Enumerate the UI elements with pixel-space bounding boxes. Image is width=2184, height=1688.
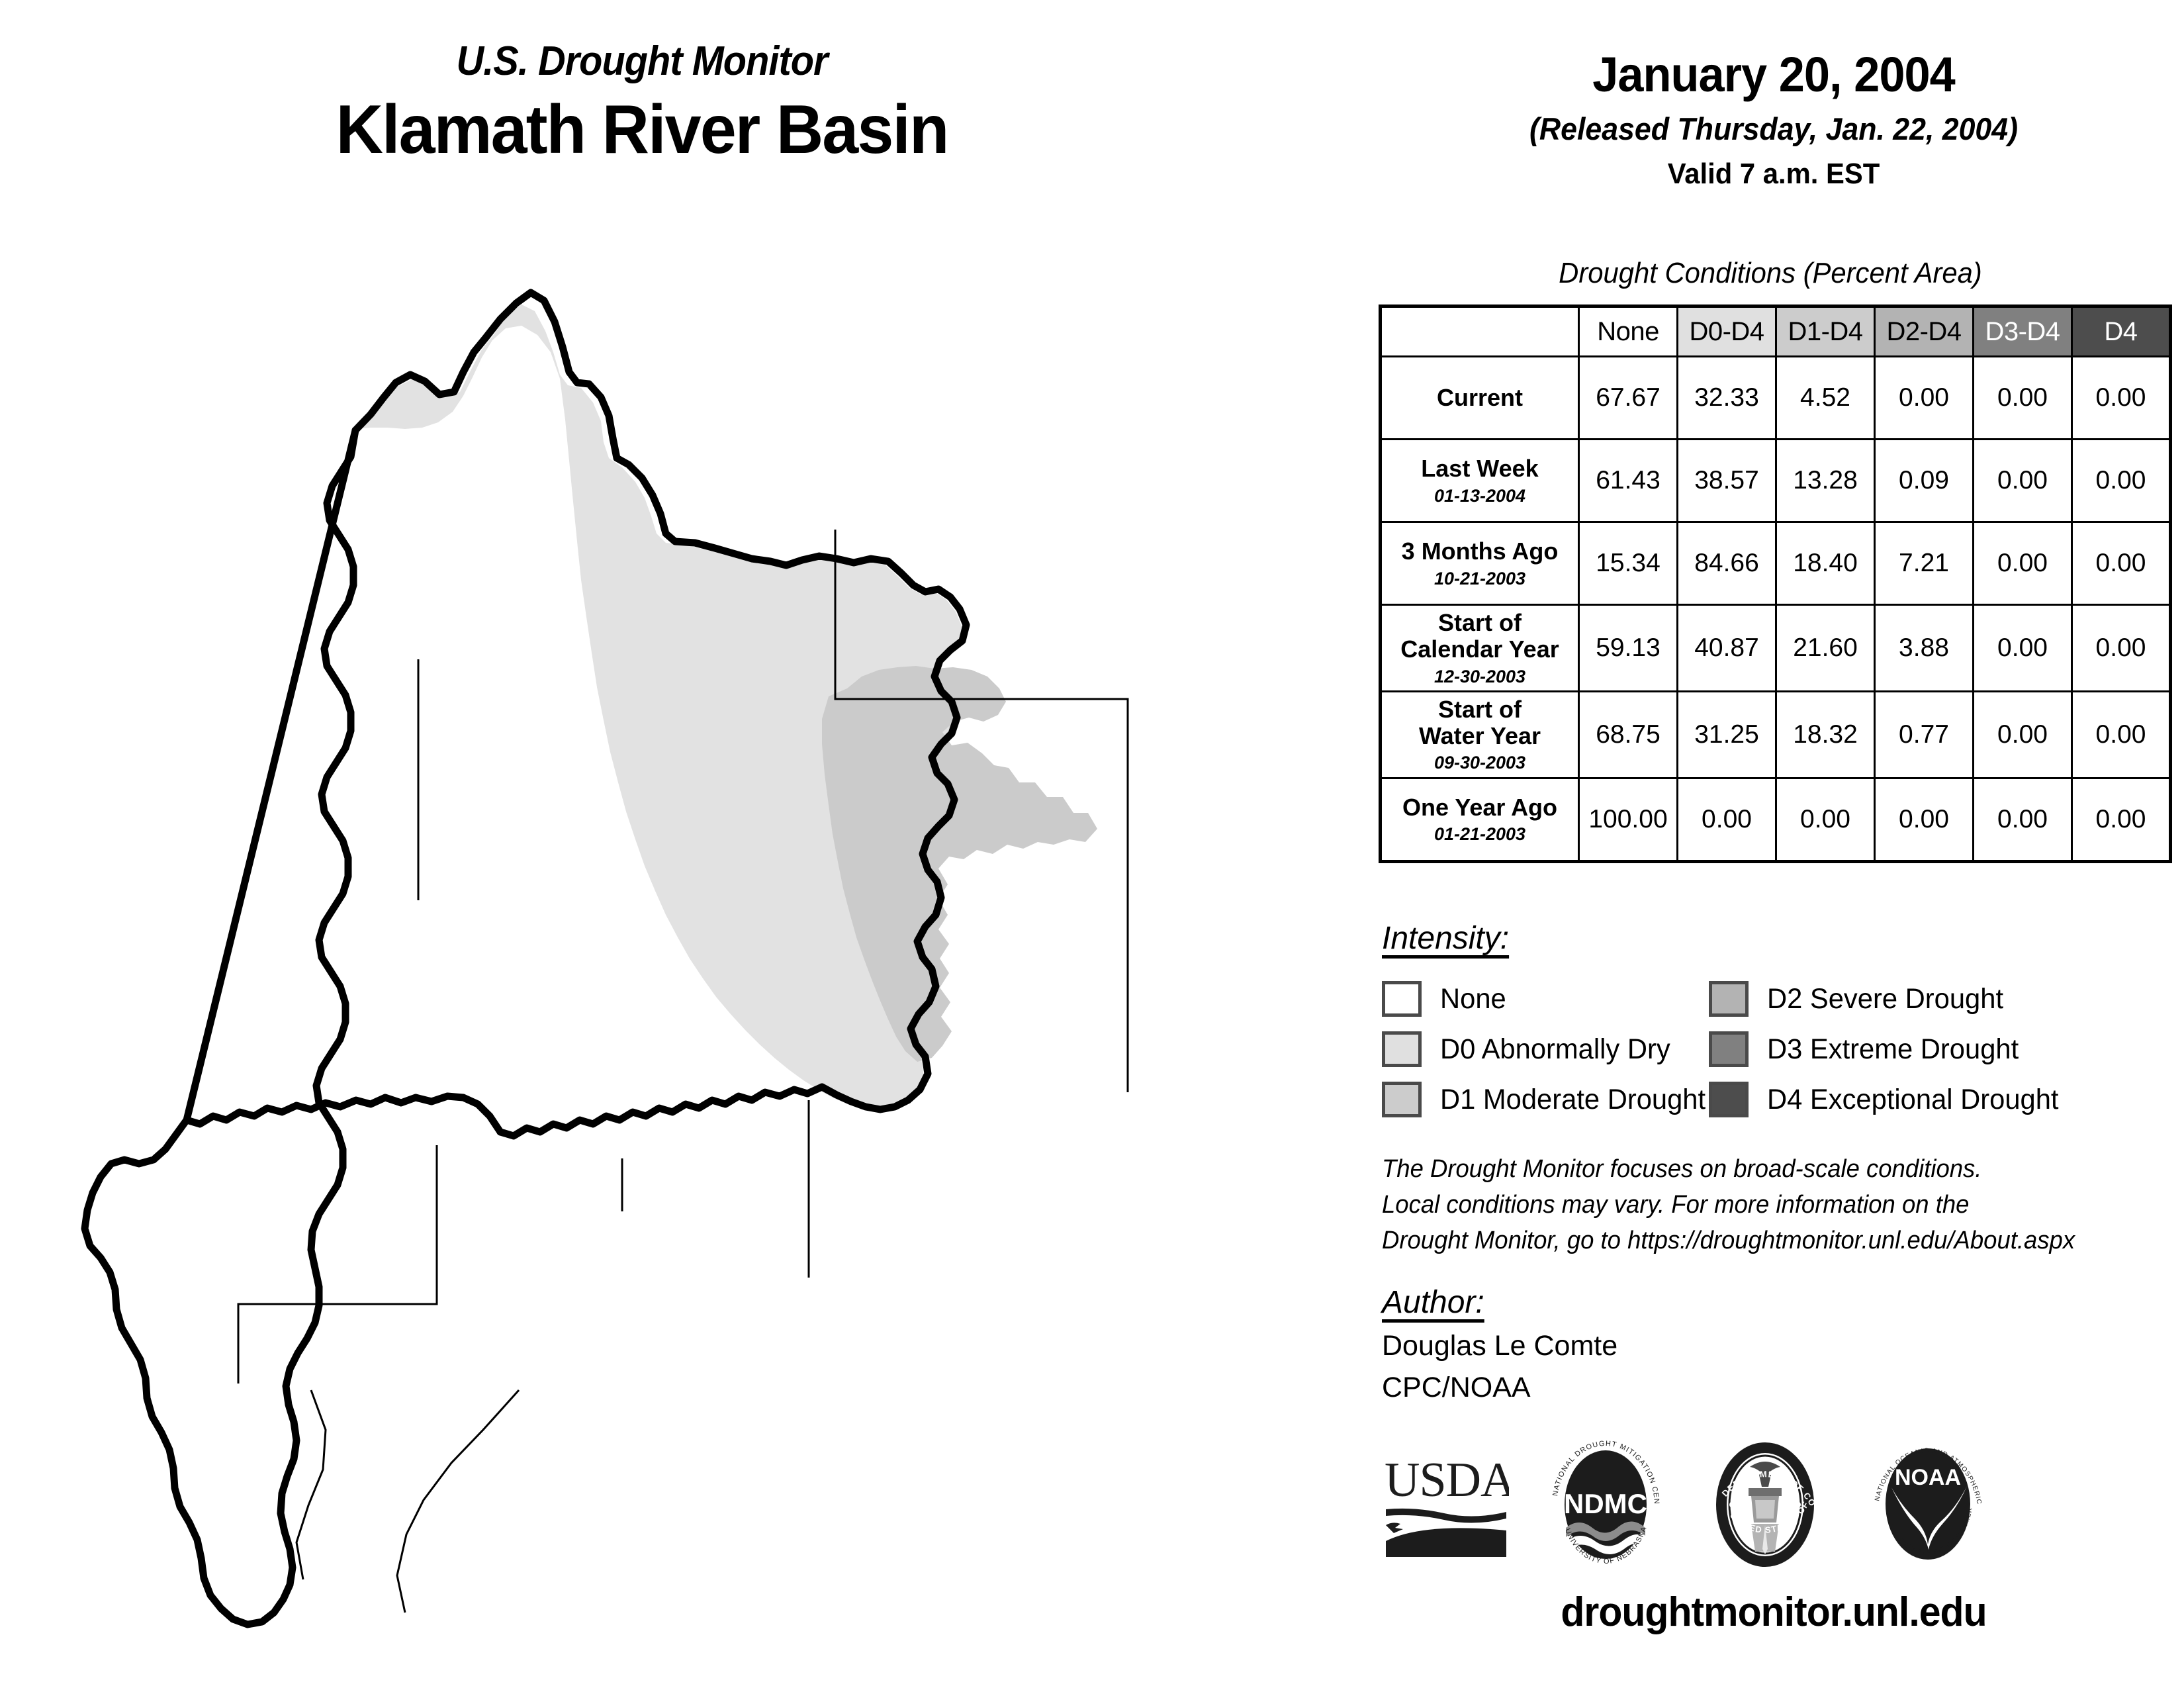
- disclaimer-line-3: Drought Monitor, go to https://droughtmo…: [1382, 1223, 2144, 1259]
- basin-map-svg[interactable]: [26, 265, 1324, 1628]
- cell-d1-d4: 18.40: [1776, 522, 1875, 605]
- table-caption: Drought Conditions (Percent Area): [1384, 257, 2158, 290]
- legend-item-d3-extreme-drought: D3 Extreme Drought: [1709, 1024, 2119, 1074]
- cell-d0-d4: 38.57: [1678, 440, 1776, 522]
- legend-grid: NoneD2 Severe DroughtD0 Abnormally DryD3…: [1382, 974, 2176, 1125]
- release-date: (Released Thursday, Jan. 22, 2004): [1384, 111, 2163, 147]
- legend-item-d0-abnormally-dry: D0 Abnormally Dry: [1382, 1024, 1693, 1074]
- svg-text:USDA: USDA: [1385, 1453, 1509, 1507]
- cell-d0-d4: 31.25: [1678, 691, 1776, 778]
- valid-time: Valid 7 a.m. EST: [1384, 158, 2163, 191]
- cell-d2-d4: 0.00: [1875, 778, 1974, 861]
- intensity-legend: Intensity: NoneD2 Severe DroughtD0 Abnor…: [1382, 920, 2176, 1125]
- report-date: January 20, 2004: [1384, 46, 2163, 103]
- cell-d3-d4: 0.00: [1974, 691, 2072, 778]
- column-header-d1-d4: D1-D4: [1776, 306, 1875, 357]
- column-header-d2-d4: D2-D4: [1875, 306, 1974, 357]
- row-label: Current: [1381, 357, 1579, 440]
- author-name: Douglas Le Comte: [1382, 1330, 2176, 1362]
- legend-label: D0 Abnormally Dry: [1440, 1033, 1670, 1066]
- cell-d3-d4: 0.00: [1974, 357, 2072, 440]
- map-background: [26, 265, 1324, 1628]
- page-subtitle: U.S. Drought Monitor: [45, 40, 1239, 83]
- cell-d0-d4: 32.33: [1678, 357, 1776, 440]
- cell-d4: 0.00: [2072, 691, 2171, 778]
- cell-d3-d4: 0.00: [1974, 778, 2072, 861]
- author-block: Author: Douglas Le Comte CPC/NOAA: [1382, 1284, 2176, 1404]
- cell-d2-d4: 0.77: [1875, 691, 1974, 778]
- cell-none: 67.67: [1579, 357, 1678, 440]
- table-row: Start ofCalendar Year12-30-200359.1340.8…: [1381, 605, 2171, 692]
- cell-d2-d4: 0.00: [1875, 357, 1974, 440]
- disclaimer-line-1: The Drought Monitor focuses on broad-sca…: [1382, 1152, 2144, 1188]
- row-date: 01-13-2004: [1385, 486, 1575, 506]
- disclaimer-line-2: Local conditions may vary. For more info…: [1382, 1188, 2144, 1223]
- table-header-row: NoneD0-D4D1-D4D2-D4D3-D4D4: [1381, 306, 2171, 357]
- date-block: January 20, 2004 (Released Thursday, Jan…: [1363, 46, 2184, 191]
- column-header-d0-d4: D0-D4: [1678, 306, 1776, 357]
- row-label: Last Week01-13-2004: [1381, 440, 1579, 522]
- cell-d4: 0.00: [2072, 522, 2171, 605]
- legend-label: D2 Severe Drought: [1767, 983, 2003, 1015]
- column-header-d3-d4: D3-D4: [1974, 306, 2072, 357]
- cell-d4: 0.00: [2072, 357, 2171, 440]
- row-label: 3 Months Ago10-21-2003: [1381, 522, 1579, 605]
- website-url[interactable]: droughtmonitor.unl.edu: [1384, 1589, 2163, 1636]
- cell-d1-d4: 13.28: [1776, 440, 1875, 522]
- author-title: Author:: [1382, 1284, 1484, 1321]
- legend-label: D3 Extreme Drought: [1767, 1033, 2019, 1066]
- row-label: Start ofCalendar Year12-30-2003: [1381, 605, 1579, 692]
- header-spacer: [1381, 306, 1579, 357]
- cell-none: 61.43: [1579, 440, 1678, 522]
- cell-d4: 0.00: [2072, 440, 2171, 522]
- table-header: NoneD0-D4D1-D4D2-D4D3-D4D4: [1381, 306, 2171, 357]
- row-date: 09-30-2003: [1385, 753, 1575, 773]
- cell-d2-d4: 0.09: [1875, 440, 1974, 522]
- row-date: 12-30-2003: [1385, 667, 1575, 686]
- cell-none: 68.75: [1579, 691, 1678, 778]
- legend-item-d4-exceptional-drought: D4 Exceptional Drought: [1709, 1074, 2119, 1125]
- page-title: Klamath River Basin: [32, 95, 1252, 165]
- legend-swatch-icon: [1709, 1031, 1749, 1067]
- ndmc-logo: NDMC NATIONAL DROUGHT MITIGATION CENTER …: [1546, 1435, 1665, 1577]
- table-row: Current67.6732.334.520.000.000.00: [1381, 357, 2171, 440]
- table-row: One Year Ago01-21-2003100.000.000.000.00…: [1381, 778, 2171, 861]
- cell-none: 15.34: [1579, 522, 1678, 605]
- row-date: 01-21-2003: [1385, 824, 1575, 844]
- table-row: Last Week01-13-200461.4338.5713.280.090.…: [1381, 440, 2171, 522]
- cell-d3-d4: 0.00: [1974, 522, 2072, 605]
- intensity-title: Intensity:: [1382, 920, 1509, 957]
- legend-item-d1-moderate-drought: D1 Moderate Drought: [1382, 1074, 1693, 1125]
- legend-item-none: None: [1382, 974, 1693, 1024]
- svg-text:NOAA: NOAA: [1895, 1465, 1961, 1490]
- map-panel: U.S. Drought Monitor Klamath River Basin: [0, 0, 1363, 1688]
- cell-d0-d4: 40.87: [1678, 605, 1776, 692]
- cell-none: 59.13: [1579, 605, 1678, 692]
- legend-label: D1 Moderate Drought: [1440, 1084, 1706, 1116]
- legend-label: D4 Exceptional Drought: [1767, 1084, 2059, 1116]
- doc-seal-logo: DEPARTMENT OF COMMERCE UNITED STATES OF …: [1702, 1435, 1828, 1577]
- usda-logo: USDA: [1383, 1448, 1509, 1564]
- cell-d0-d4: 84.66: [1678, 522, 1776, 605]
- cell-d0-d4: 0.00: [1678, 778, 1776, 861]
- disclaimer-text: The Drought Monitor focuses on broad-sca…: [1382, 1152, 2144, 1259]
- cell-d3-d4: 0.00: [1974, 605, 2072, 692]
- cell-d3-d4: 0.00: [1974, 440, 2072, 522]
- row-date: 10-21-2003: [1385, 569, 1575, 588]
- row-label: Start ofWater Year09-30-2003: [1381, 691, 1579, 778]
- cell-d2-d4: 3.88: [1875, 605, 1974, 692]
- info-panel: January 20, 2004 (Released Thursday, Jan…: [1363, 0, 2184, 1688]
- legend-swatch-icon: [1709, 1082, 1749, 1117]
- cell-d2-d4: 7.21: [1875, 522, 1974, 605]
- table-row: 3 Months Ago10-21-200315.3484.6618.407.2…: [1381, 522, 2171, 605]
- column-header-none: None: [1579, 306, 1678, 357]
- column-header-d4: D4: [2072, 306, 2171, 357]
- legend-swatch-icon: [1382, 1031, 1422, 1067]
- table-row: Start ofWater Year09-30-200368.7531.2518…: [1381, 691, 2171, 778]
- drought-conditions-table: NoneD0-D4D1-D4D2-D4D3-D4D4 Current67.673…: [1379, 305, 2172, 863]
- noaa-logo: NOAA NATIONAL OCEANIC AND ATMOSPHERIC AD…: [1865, 1433, 1991, 1579]
- cell-d1-d4: 4.52: [1776, 357, 1875, 440]
- cell-d1-d4: 18.32: [1776, 691, 1875, 778]
- cell-d4: 0.00: [2072, 605, 2171, 692]
- table-body: Current67.6732.334.520.000.000.00Last We…: [1381, 357, 2171, 862]
- row-label: One Year Ago01-21-2003: [1381, 778, 1579, 861]
- author-affiliation: CPC/NOAA: [1382, 1372, 2176, 1404]
- legend-swatch-icon: [1709, 981, 1749, 1017]
- legend-item-d2-severe-drought: D2 Severe Drought: [1709, 974, 2119, 1024]
- cell-none: 100.00: [1579, 778, 1678, 861]
- svg-text:NDMC: NDMC: [1564, 1488, 1647, 1519]
- klamath-river-basin-map[interactable]: [26, 265, 1324, 1628]
- title-block: U.S. Drought Monitor Klamath River Basin: [0, 40, 1284, 165]
- cell-d1-d4: 21.60: [1776, 605, 1875, 692]
- cell-d4: 0.00: [2072, 778, 2171, 861]
- legend-swatch-icon: [1382, 981, 1422, 1017]
- logo-row: USDA NDMC NATIONAL DROUGHT MITIGATION CE…: [1383, 1430, 2177, 1582]
- legend-label: None: [1440, 983, 1506, 1015]
- cell-d1-d4: 0.00: [1776, 778, 1875, 861]
- legend-swatch-icon: [1382, 1082, 1422, 1117]
